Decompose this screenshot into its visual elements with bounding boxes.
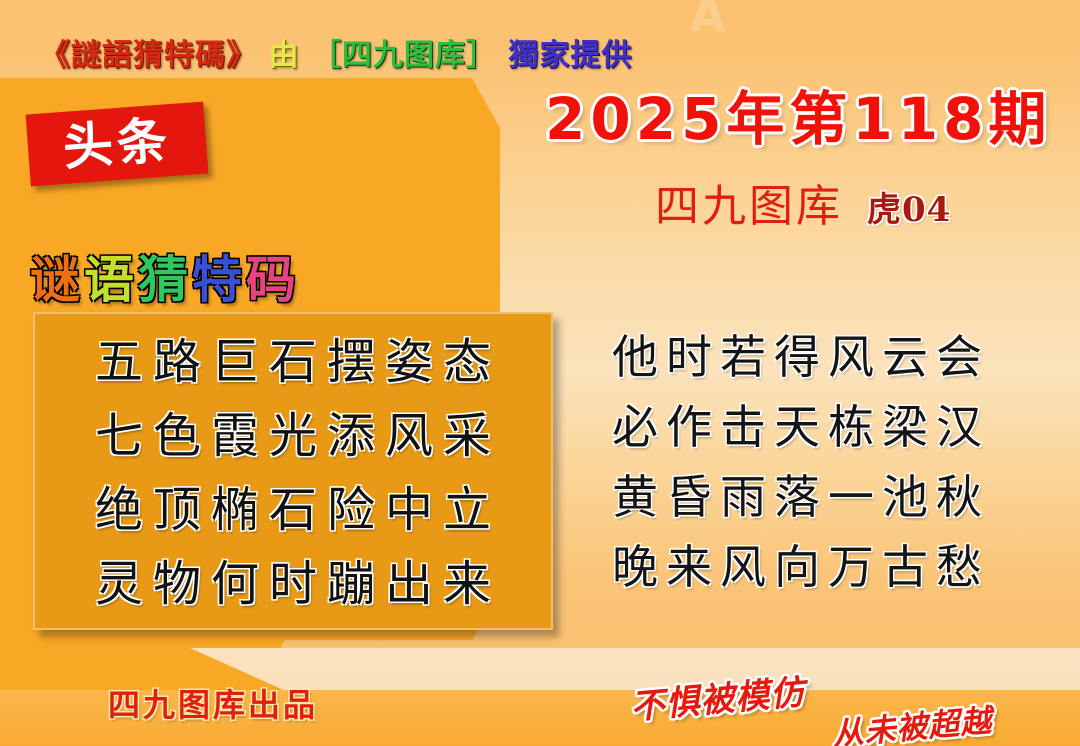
section-title-char-2: 语 bbox=[84, 240, 138, 312]
riddle-line: 绝顶椭石险中立 bbox=[35, 473, 551, 547]
riddle-line: 灵物何时蹦出来 bbox=[35, 547, 551, 621]
issue-title: 2025年第118期 bbox=[545, 72, 1052, 156]
poem-line: 他时若得风云会 bbox=[612, 322, 1072, 392]
poem-line: 晚来风向万古愁 bbox=[612, 532, 1072, 602]
section-title: 谜语猜特码 bbox=[30, 240, 300, 312]
tagline-part-exclusive: 獨家提供 bbox=[508, 30, 632, 74]
producer-credit: 四九图库出品 bbox=[108, 680, 318, 726]
zodiac-code: 虎04 bbox=[867, 182, 951, 231]
tagline-part-by: 由 bbox=[268, 30, 299, 74]
tagline: 《謎語猜特碼》 由 ［四九图库］ 獨家提供 bbox=[40, 30, 632, 74]
poem-line: 黄昏雨落一池秋 bbox=[612, 462, 1072, 532]
headline-badge[interactable]: 头条 bbox=[26, 102, 209, 187]
riddle-line: 五路巨石摆姿态 bbox=[35, 325, 551, 399]
section-title-char-4: 特 bbox=[192, 240, 246, 312]
section-title-char-1: 谜 bbox=[30, 240, 84, 312]
poem-block: 他时若得风云会 必作击天栋梁汉 黄昏雨落一池秋 晚来风向万古愁 bbox=[612, 322, 1072, 602]
section-title-char-3: 猜 bbox=[138, 240, 192, 312]
headline-badge-label: 头条 bbox=[61, 115, 172, 173]
poem-line: 必作击天栋梁汉 bbox=[612, 392, 1072, 462]
brand-line: 四九图库 虎04 bbox=[655, 170, 951, 234]
tagline-part-brand: ［四九图库］ bbox=[311, 30, 497, 74]
tagline-part-title: 《謎語猜特碼》 bbox=[40, 30, 257, 74]
section-title-char-5: 码 bbox=[246, 240, 300, 312]
watermark-glyph: A bbox=[690, 0, 810, 48]
riddle-box: 五路巨石摆姿态 七色霞光添风采 绝顶椭石险中立 灵物何时蹦出来 bbox=[33, 312, 553, 630]
brand-name: 四九图库 bbox=[655, 170, 843, 234]
riddle-line: 七色霞光添风采 bbox=[35, 399, 551, 473]
poster-canvas: A 《謎語猜特碼》 由 ［四九图库］ 獨家提供 头条 2025年第118期 四九… bbox=[0, 0, 1080, 746]
